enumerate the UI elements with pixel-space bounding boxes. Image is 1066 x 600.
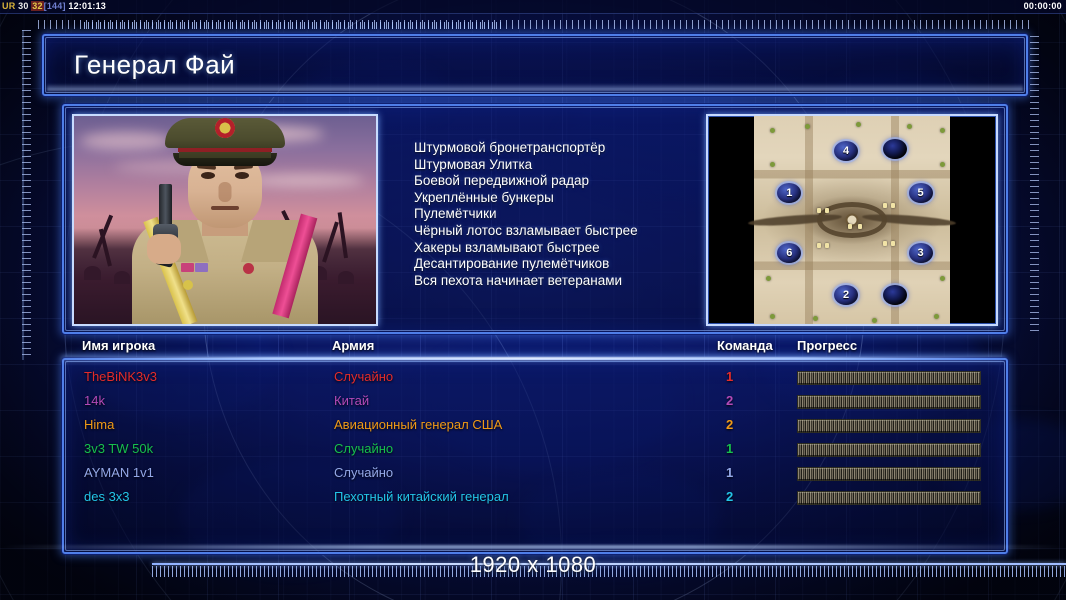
player-army: Пехотный китайский генерал (334, 489, 509, 504)
ability-line: Десантирование пулемётчиков (414, 256, 734, 273)
map-start-position[interactable]: 2 (834, 285, 858, 305)
player-progress-bar (797, 371, 981, 385)
general-portrait-frame (72, 114, 378, 326)
player-army: Авиационный генерал США (334, 417, 502, 432)
map-tree (940, 162, 945, 167)
map-supply-dock (891, 241, 895, 246)
map-tree (770, 314, 775, 319)
map-start-position-empty[interactable] (883, 139, 907, 159)
map-preview-frame[interactable]: 415632 (706, 114, 998, 326)
header-army: Армия (332, 338, 374, 353)
player-rows: TheBiNK3v3Случайно114kКитай2HimaАвиацион… (74, 366, 996, 510)
player-team: 2 (726, 417, 733, 432)
player-team: 1 (726, 369, 733, 384)
medal (195, 263, 208, 272)
general-info-panel: Штурмовой бронетранспортёрШтурмовая Улит… (62, 104, 1008, 334)
title-sheen (47, 84, 1023, 91)
page-title: Генерал Фай (74, 50, 235, 81)
hud-top-bar: UR 30 32[144] 12:01:13 00:00:00 (0, 0, 1066, 14)
map-start-position[interactable]: 4 (834, 141, 858, 161)
map-start-position[interactable]: 1 (777, 183, 801, 203)
map-tree (770, 162, 775, 167)
ability-line: Штурмовая Улитка (414, 157, 734, 174)
frame-ruler-top-minor (84, 22, 504, 29)
player-row[interactable]: 14kКитай2 (74, 390, 996, 414)
eye-right (235, 172, 249, 179)
player-row[interactable]: des 3x3Пехотный китайский генерал2 (74, 486, 996, 510)
player-progress-bar (797, 491, 981, 505)
map-supply-dock (848, 224, 852, 229)
perf-value-1: 30 (18, 1, 28, 11)
map-supply-dock (858, 224, 862, 229)
ability-line: Укреплённые бункеры (414, 190, 734, 207)
perf-time: 12:01:13 (68, 1, 106, 11)
medal (181, 263, 194, 272)
crowd-head (338, 271, 354, 284)
player-name: 3v3 TW 50k (84, 441, 153, 456)
map-supply-dock (883, 203, 887, 208)
player-team: 2 (726, 489, 733, 504)
player-army: Случайно (334, 369, 393, 384)
player-progress-bar (797, 419, 981, 433)
map-start-position-empty[interactable] (883, 285, 907, 305)
player-team: 1 (726, 441, 733, 456)
match-clock: 00:00:00 (1024, 1, 1062, 11)
general-portrait-image (74, 116, 376, 324)
ability-line: Хакеры взламывают быстрее (414, 240, 734, 257)
player-name: 14k (84, 393, 105, 408)
map-tree (766, 276, 771, 281)
frame-ruler-right (1030, 36, 1039, 336)
map-start-position[interactable]: 3 (909, 243, 933, 263)
pistol-icon (143, 184, 201, 260)
map-supply-dock (883, 241, 887, 246)
ability-line: Чёрный лотос взламывает быстрее (414, 223, 734, 240)
player-row[interactable]: 3v3 TW 50kСлучайно1 (74, 438, 996, 462)
player-row[interactable]: HimaАвиационный генерал США2 (74, 414, 996, 438)
player-name: AYMAN 1v1 (84, 465, 154, 480)
map-tree (872, 318, 877, 323)
medal-emblem (243, 263, 254, 274)
map-center-dot (848, 216, 857, 225)
footer-sheen (0, 545, 1066, 549)
player-name: des 3x3 (84, 489, 130, 504)
general-abilities-list: Штурмовой бронетранспортёрШтурмовая Улит… (414, 140, 734, 289)
map-tree (934, 314, 939, 319)
eye-left (201, 172, 215, 179)
player-progress-bar (797, 395, 981, 409)
map-supply-dock (825, 243, 829, 248)
officer-figure (127, 138, 323, 324)
map-start-position[interactable]: 6 (777, 243, 801, 263)
player-army: Случайно (334, 465, 393, 480)
nose (219, 182, 232, 202)
map-preview-image: 415632 (754, 116, 950, 324)
header-team: Команда (717, 338, 773, 353)
player-name: Hima (84, 417, 114, 432)
player-row[interactable]: AYMAN 1v1Случайно1 (74, 462, 996, 486)
map-start-position[interactable]: 5 (909, 183, 933, 203)
resolution-label: 1920 x 1080 (0, 552, 1066, 578)
map-supply-dock (817, 208, 821, 213)
player-army: Случайно (334, 441, 393, 456)
header-player-name: Имя игрока (82, 338, 155, 353)
perf-prefix: UR (2, 1, 15, 11)
ability-line: Боевой передвижной радар (414, 173, 734, 190)
header-underline (62, 357, 1004, 360)
frame-hairline-left (22, 30, 24, 360)
player-team: 2 (726, 393, 733, 408)
map-tree (813, 316, 818, 321)
ability-line: Пулемётчики (414, 206, 734, 223)
player-team: 1 (726, 465, 733, 480)
map-supply-dock (817, 243, 821, 248)
title-panel: Генерал Фай (42, 34, 1028, 96)
player-progress-bar (797, 467, 981, 481)
ability-line: Штурмовой бронетранспортёр (414, 140, 734, 157)
map-supply-dock (891, 203, 895, 208)
game-lobby-screen: UR 30 32[144] 12:01:13 00:00:00 Генерал … (0, 0, 1066, 600)
perf-value-2: 32 (31, 1, 43, 11)
player-list-panel: TheBiNK3v3Случайно114kКитай2HimaАвиацион… (62, 358, 1008, 554)
header-progress: Прогресс (797, 338, 857, 353)
crowd-head (84, 266, 101, 280)
medal-star (183, 280, 193, 290)
ability-line: Вся пехота начинает ветеранами (414, 273, 734, 290)
map-supply-dock (825, 208, 829, 213)
player-name: TheBiNK3v3 (84, 369, 157, 384)
player-progress-bar (797, 443, 981, 457)
perf-bracket: [144] (44, 1, 66, 11)
player-list-headers: Имя игрока Армия Команда Прогресс (62, 338, 1004, 358)
mouth (211, 206, 239, 210)
performance-readout: UR 30 32[144] 12:01:13 (2, 1, 106, 11)
player-row[interactable]: TheBiNK3v3Случайно1 (74, 366, 996, 390)
cap-emblem-icon (215, 118, 235, 138)
officer-hand (147, 234, 181, 264)
player-army: Китай (334, 393, 369, 408)
